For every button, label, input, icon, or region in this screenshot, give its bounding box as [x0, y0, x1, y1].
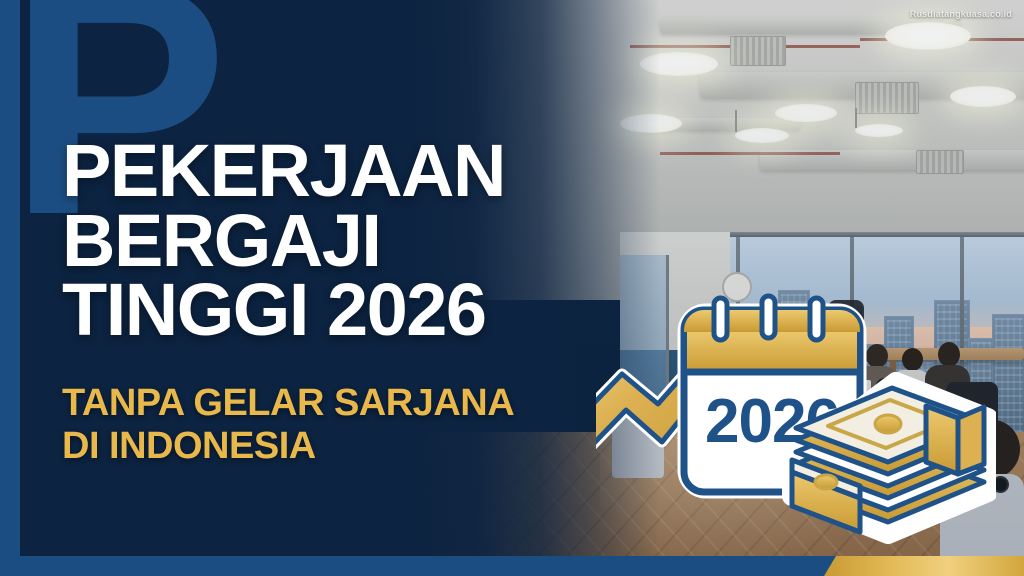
page-title: PEKERJAAN BERGAJI TINGGI 2026 — [62, 136, 622, 345]
bottom-bar-gold — [824, 556, 1024, 576]
page-subtitle: TANPA GELAR SARJANA DI INDONESIA — [62, 382, 602, 467]
headline-line-1: PEKERJAAN — [62, 136, 622, 206]
subheadline-line-1: TANPA GELAR SARJANA — [62, 382, 602, 425]
subheadline-line-2: DI INDONESIA — [62, 425, 602, 468]
poster-canvas: P PEKERJAAN BERGAJI TINGGI 2026 TANPA GE… — [0, 0, 1024, 576]
illustration-cluster: 2026 — [596, 282, 996, 544]
headline-line-2: BERGAJI — [62, 206, 622, 276]
site-watermark: Rusdiatangkuasa.co.id — [910, 9, 1012, 19]
headline-line-3: TINGGI 2026 — [62, 275, 622, 345]
